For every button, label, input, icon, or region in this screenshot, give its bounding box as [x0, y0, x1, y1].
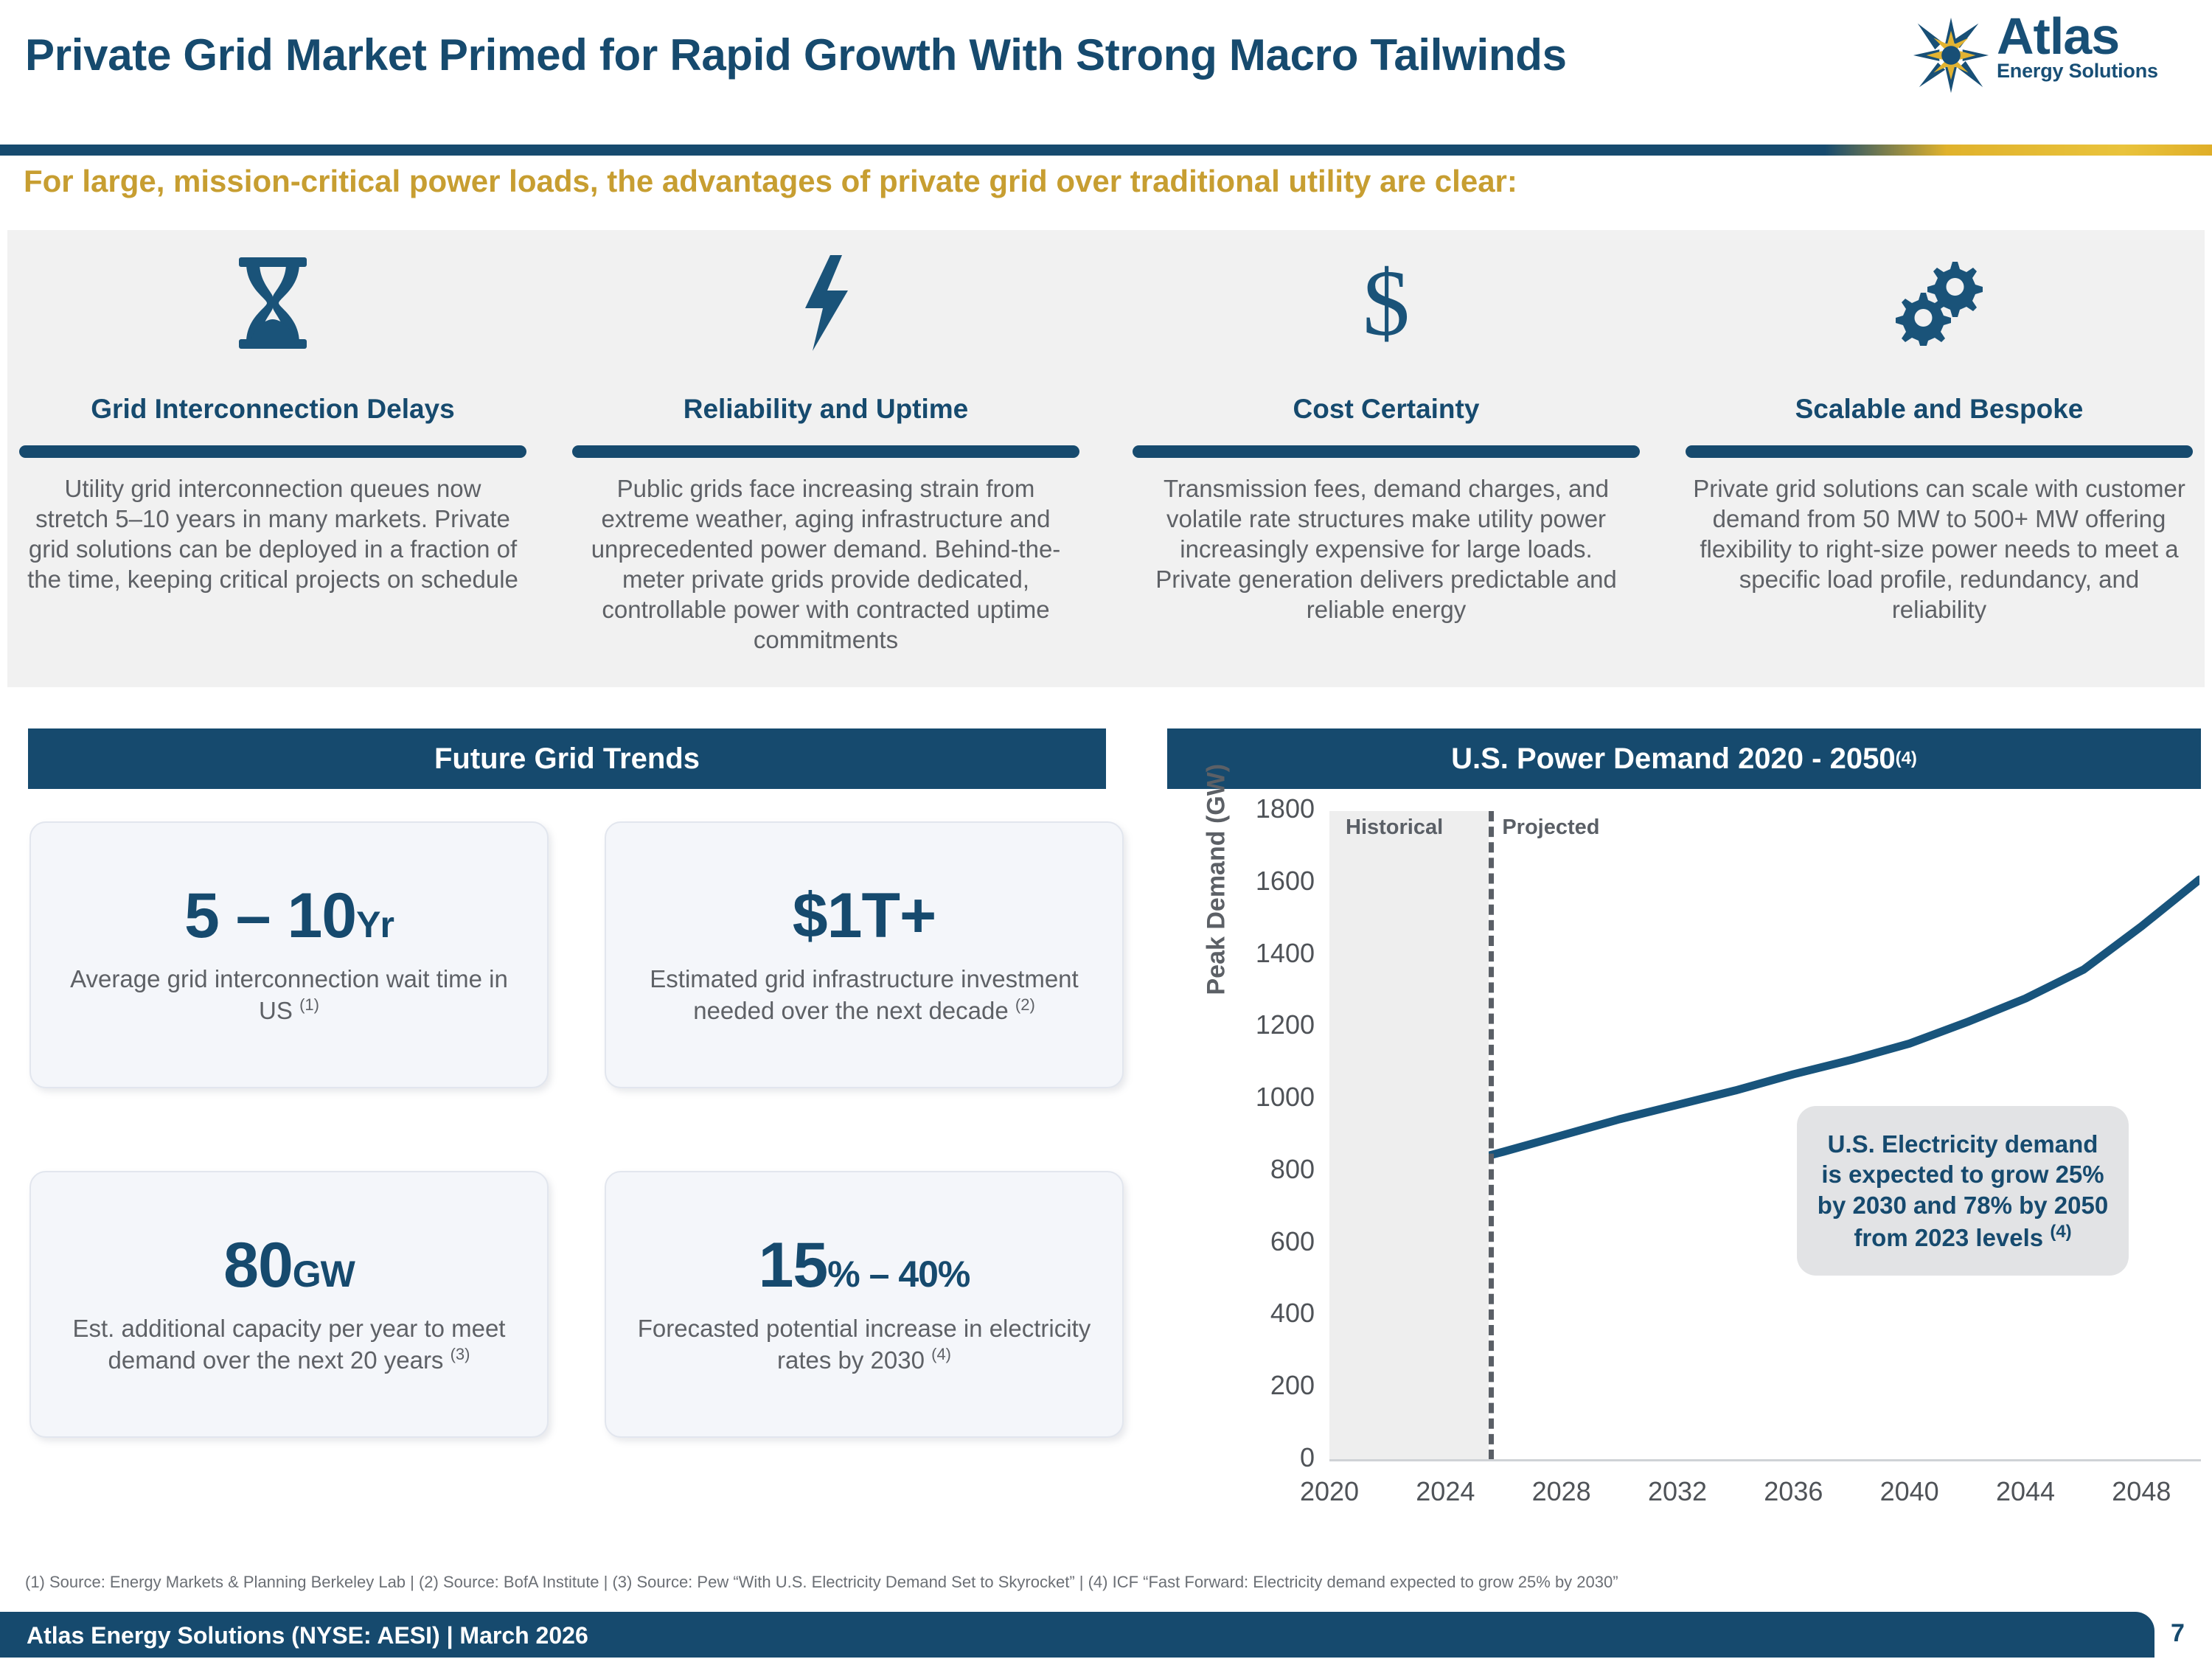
- advantage-column-grid-interconnection-delays: Grid Interconnection Delays Utility grid…: [15, 230, 531, 687]
- chart-y-tick: 1600: [1219, 866, 1315, 897]
- page-number: 7: [2171, 1619, 2185, 1648]
- chart-x-tick: 2020: [1270, 1476, 1388, 1507]
- stat-value: 5 – 10Yr: [184, 884, 394, 947]
- stat-unit: GW: [293, 1253, 355, 1295]
- stat-footnote-ref: (4): [931, 1345, 951, 1363]
- advantage-title: Reliability and Uptime: [568, 394, 1084, 425]
- chart-y-tick: 600: [1219, 1226, 1315, 1257]
- stat-footnote-ref: (3): [451, 1345, 470, 1363]
- stat-card-wait-time: 5 – 10Yr Average grid interconnection wa…: [29, 821, 549, 1088]
- chart-x-tick: 2048: [2082, 1476, 2200, 1507]
- footer-text: Atlas Energy Solutions (NYSE: AESI) | Ma…: [27, 1622, 588, 1649]
- stat-description-text: Forecasted potential increase in electri…: [638, 1315, 1091, 1374]
- advantage-underline: [572, 445, 1079, 458]
- stat-description-text: Average grid interconnection wait time i…: [70, 965, 508, 1024]
- chart-heading-footnote-ref: (4): [1896, 748, 1917, 769]
- stat-number: $1T+: [793, 880, 936, 951]
- stat-description: Estimated grid infrastructure investment…: [637, 964, 1091, 1026]
- projected-label: Projected: [1502, 815, 1599, 840]
- future-grid-trends-heading: Future Grid Trends: [28, 728, 1106, 789]
- advantage-column-cost-certainty: $ Cost Certainty Transmission fees, dema…: [1128, 230, 1644, 687]
- chart-y-tick: 1200: [1219, 1009, 1315, 1040]
- chart-x-tick: 2024: [1386, 1476, 1504, 1507]
- advantage-title: Grid Interconnection Delays: [15, 394, 531, 425]
- chart-x-axis-line: [1329, 1459, 2201, 1461]
- chart-panel-heading: U.S. Power Demand 2020 - 2050(4): [1167, 728, 2201, 789]
- advantage-column-scalable-and-bespoke: Scalable and Bespoke Private grid soluti…: [1681, 230, 2197, 687]
- stat-number: 5 – 10: [184, 880, 356, 951]
- atlas-star-icon: [1907, 12, 1995, 99]
- advantage-title: Cost Certainty: [1128, 394, 1644, 425]
- advantage-column-reliability-and-uptime: Reliability and Uptime Public grids face…: [568, 230, 1084, 687]
- logo-tagline: Energy Solutions: [1997, 60, 2158, 83]
- stat-value: $1T+: [793, 884, 936, 947]
- logo-wordmark: Atlas: [1997, 12, 2158, 61]
- chart-x-tick: 2036: [1734, 1476, 1852, 1507]
- chart-callout-box: U.S. Electricity demand is expected to g…: [1797, 1106, 2129, 1276]
- stat-card-additional-capacity: 80GW Est. additional capacity per year t…: [29, 1171, 549, 1438]
- chart-x-tick: 2044: [1966, 1476, 2084, 1507]
- callout-footnote-ref: (4): [2050, 1222, 2071, 1242]
- stat-number: 80: [223, 1230, 293, 1301]
- dollar-sign-icon: $: [1128, 248, 1644, 358]
- stat-value: 15% – 40%: [759, 1234, 970, 1297]
- atlas-logo: Atlas Energy Solutions: [1907, 10, 2194, 99]
- stat-card-rate-increase: 15% – 40% Forecasted potential increase …: [605, 1171, 1124, 1438]
- gears-icon: [1681, 248, 2197, 358]
- advantage-underline: [1686, 445, 2193, 458]
- chart-y-tick: 1400: [1219, 938, 1315, 969]
- stat-description-text: Est. additional capacity per year to mee…: [73, 1315, 506, 1374]
- advantages-band: Grid Interconnection Delays Utility grid…: [7, 230, 2205, 687]
- chart-y-tick: 0: [1219, 1442, 1315, 1473]
- stat-footnote-ref: (1): [299, 995, 319, 1014]
- chart-y-tick: 1000: [1219, 1082, 1315, 1113]
- historical-projected-divider: [1489, 811, 1494, 1460]
- chart-y-tick: 1800: [1219, 793, 1315, 824]
- page-title: Private Grid Market Primed for Rapid Gro…: [25, 29, 1927, 80]
- chart-x-tick: 2032: [1618, 1476, 1736, 1507]
- stat-card-investment: $1T+ Estimated grid infrastructure inves…: [605, 821, 1124, 1088]
- historical-shaded-region: [1329, 811, 1489, 1460]
- svg-text:$: $: [1363, 255, 1410, 351]
- advantage-underline: [19, 445, 526, 458]
- chart-x-tick: 2040: [1851, 1476, 1969, 1507]
- header-divider: [0, 145, 2212, 156]
- stat-description: Average grid interconnection wait time i…: [62, 964, 516, 1026]
- lightning-bolt-icon: [568, 248, 1084, 358]
- advantage-body: Public grids face increasing strain from…: [580, 474, 1072, 655]
- stat-description: Forecasted potential increase in electri…: [637, 1313, 1091, 1375]
- advantage-underline: [1133, 445, 1640, 458]
- advantage-body: Private grid solutions can scale with cu…: [1693, 474, 2185, 625]
- chart-heading-text: U.S. Power Demand 2020 - 2050: [1451, 742, 1896, 776]
- chart-x-tick: 2028: [1503, 1476, 1621, 1507]
- stat-unit: % – 40%: [827, 1253, 970, 1295]
- stat-description: Est. additional capacity per year to mee…: [62, 1313, 516, 1375]
- chart-y-tick: 200: [1219, 1370, 1315, 1401]
- stat-value: 80GW: [223, 1234, 355, 1297]
- advantage-body: Utility grid interconnection queues now …: [27, 474, 519, 595]
- stat-number: 15: [759, 1230, 828, 1301]
- chart-y-tick: 800: [1219, 1154, 1315, 1185]
- chart-y-tick: 400: [1219, 1298, 1315, 1329]
- advantage-title: Scalable and Bespoke: [1681, 394, 2197, 425]
- stat-footnote-ref: (2): [1015, 995, 1035, 1014]
- hourglass-icon: [15, 248, 531, 358]
- historical-label: Historical: [1346, 815, 1443, 840]
- subheadline: For large, mission-critical power loads,…: [24, 164, 1517, 199]
- footnote: (1) Source: Energy Markets & Planning Be…: [25, 1573, 2185, 1592]
- stat-unit: Yr: [356, 904, 394, 945]
- advantage-body: Transmission fees, demand charges, and v…: [1140, 474, 1632, 625]
- stat-description-text: Estimated grid infrastructure investment…: [650, 965, 1078, 1024]
